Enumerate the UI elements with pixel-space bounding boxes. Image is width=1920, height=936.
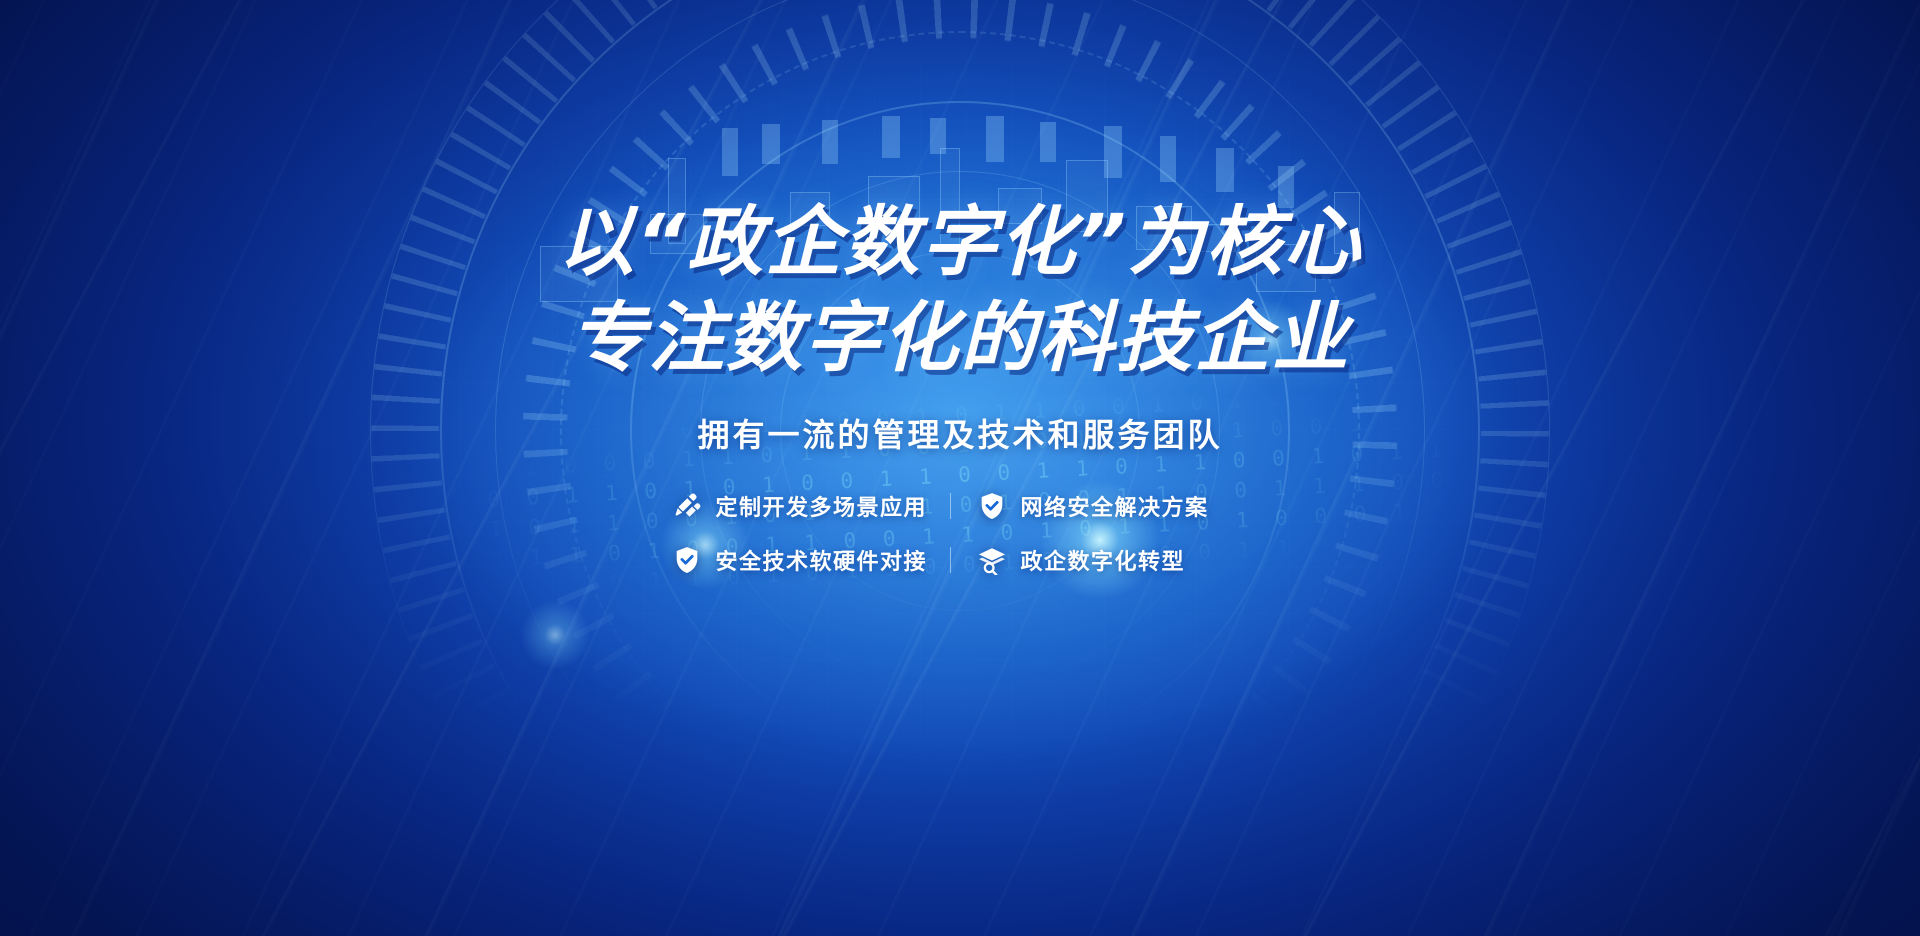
feature-item-security-integration[interactable]: 安全技术软硬件对接 xyxy=(672,544,944,576)
feature-item-digital-transformation[interactable]: 政企数字化转型 xyxy=(977,544,1249,576)
code-develop-icon xyxy=(672,491,702,521)
feature-divider xyxy=(950,493,951,519)
banner-content: 以“政企数字化”为核心 专注数字化的科技企业 拥有一流的管理及技术和服务团队 xyxy=(0,0,1920,936)
feature-label: 网络安全解决方案 xyxy=(1021,490,1209,522)
headline-line-2: 专注数字化的科技企业 xyxy=(558,292,1362,384)
feature-label: 政企数字化转型 xyxy=(1021,544,1186,576)
feature-row: 定制开发多场景应用 网络安全解决方案 xyxy=(672,490,1249,522)
feature-divider xyxy=(950,547,951,573)
shield-check-icon xyxy=(977,491,1007,521)
feature-row: 安全技术软硬件对接 政企数字化转型 xyxy=(672,544,1249,576)
headline-line-1: 以“政企数字化”为核心 xyxy=(558,196,1362,288)
feature-item-network-security[interactable]: 网络安全解决方案 xyxy=(977,490,1249,522)
feature-list: 定制开发多场景应用 网络安全解决方案 xyxy=(672,490,1249,576)
layers-search-icon xyxy=(977,545,1007,575)
headline: 以“政企数字化”为核心 专注数字化的科技企业 xyxy=(558,196,1362,384)
feature-label: 定制开发多场景应用 xyxy=(716,490,928,522)
feature-label: 安全技术软硬件对接 xyxy=(716,544,928,576)
hero-banner: 1 0 0 1 1 0 1 0 0 1 1 1 0 0 1 0 1 1 0 0 … xyxy=(0,0,1920,936)
shield-check-icon xyxy=(672,545,702,575)
feature-item-custom-development[interactable]: 定制开发多场景应用 xyxy=(672,490,944,522)
subtitle: 拥有一流的管理及技术和服务团队 xyxy=(697,410,1222,456)
